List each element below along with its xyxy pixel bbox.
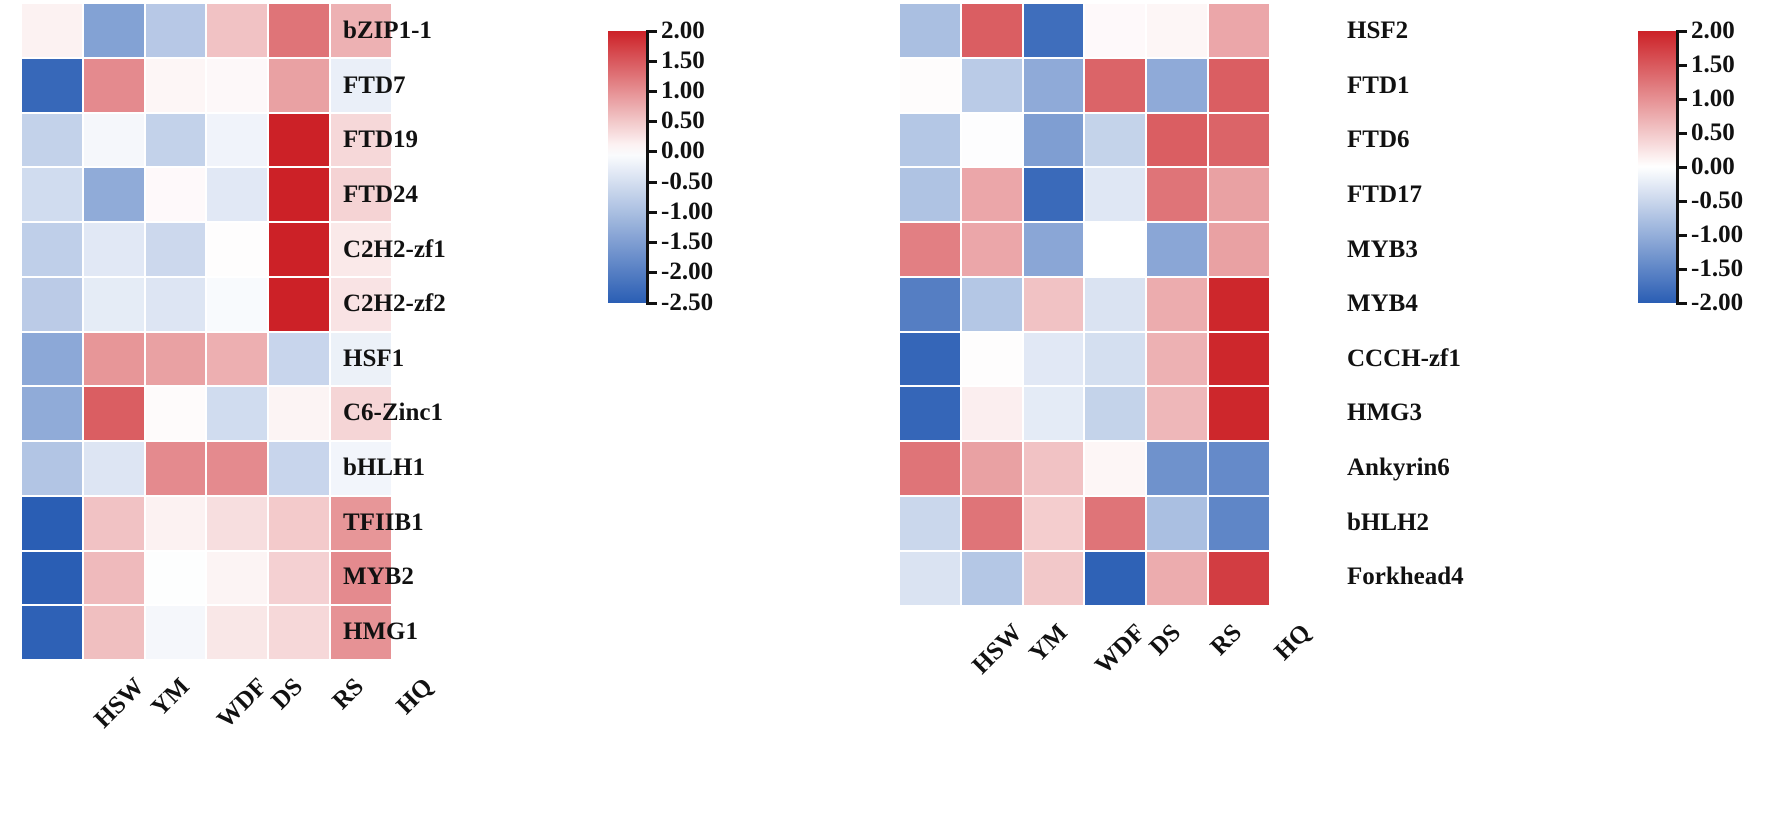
heatmap-cell [1024, 168, 1084, 221]
heatmap-cell [269, 333, 329, 386]
heatmap-cell [1085, 168, 1145, 221]
colorbar-tick-label: 1.50 [661, 48, 705, 73]
colorbar-tick-mark [1676, 200, 1687, 203]
colorbar-tick-mark [1676, 166, 1687, 169]
heatmap-cell [22, 278, 82, 331]
heatmap-cell [207, 168, 267, 221]
heatmap-cell [1147, 223, 1207, 276]
colorbar-tick-label: -2.00 [661, 259, 713, 284]
heatmap-cell [22, 114, 82, 167]
colorbar-tick-label: 2.00 [1691, 18, 1735, 43]
heatmap-cell [146, 4, 206, 57]
left-column-labels: HSWYMWDFDSRSHQ [22, 667, 391, 807]
heatmap-cell [22, 552, 82, 605]
heatmap-cell [1147, 59, 1207, 112]
colorbar-tick-mark [646, 90, 657, 93]
heatmap-cell [1147, 333, 1207, 386]
heatmap-cell [1024, 552, 1084, 605]
colorbar-tick-label: -1.50 [1691, 256, 1743, 281]
heatmap-cell [22, 4, 82, 57]
heatmap-cell [1024, 278, 1084, 331]
heatmap-cell [146, 442, 206, 495]
heatmap-cell [1024, 59, 1084, 112]
heatmap-cell [207, 606, 267, 659]
heatmap-cell [22, 59, 82, 112]
colorbar-tick-mark [1676, 132, 1687, 135]
row-label: FTD19 [343, 113, 446, 168]
heatmap-cell [1147, 4, 1207, 57]
heatmap-cell [900, 4, 960, 57]
heatmap-cell [146, 278, 206, 331]
row-label: HSF2 [1347, 4, 1464, 59]
colorbar-tick-mark [646, 60, 657, 63]
heatmap-cell [22, 223, 82, 276]
row-label: TFIIB1 [343, 495, 446, 550]
heatmap-cell [269, 442, 329, 495]
heatmap-cell [900, 333, 960, 386]
heatmap-cell [22, 497, 82, 550]
row-label: HMG3 [1347, 386, 1464, 441]
row-label: bZIP1-1 [343, 4, 446, 59]
heatmap-cell [1024, 387, 1084, 440]
left-colorbar-axis [646, 31, 649, 303]
row-label: MYB4 [1347, 277, 1464, 332]
heatmap-cell [962, 278, 1022, 331]
heatmap-cell [1085, 278, 1145, 331]
heatmap-cell [1209, 4, 1269, 57]
heatmap-cell [207, 223, 267, 276]
heatmap-cell [84, 606, 144, 659]
colorbar-tick-mark [646, 271, 657, 274]
column-label: HQ [391, 673, 438, 720]
heatmap-cell [269, 387, 329, 440]
colorbar-tick-mark [1676, 98, 1687, 101]
heatmap-cell [146, 333, 206, 386]
heatmap-cell [962, 552, 1022, 605]
heatmap-cell [900, 497, 960, 550]
heatmap-cell [1209, 114, 1269, 167]
colorbar-tick-label: -2.00 [1691, 290, 1743, 315]
heatmap-cell [1085, 59, 1145, 112]
column-label: RS [1206, 619, 1248, 661]
heatmap-cell [269, 497, 329, 550]
heatmap-cell [900, 552, 960, 605]
row-label: C2H2-zf2 [343, 277, 446, 332]
heatmap-cell [1209, 497, 1269, 550]
heatmap-cell [1147, 168, 1207, 221]
row-label: CCCH-zf1 [1347, 332, 1464, 387]
heatmap-cell [22, 168, 82, 221]
heatmap-cell [84, 4, 144, 57]
heatmap-cell [22, 333, 82, 386]
heatmap-cell [962, 168, 1022, 221]
colorbar-tick-label: 0.50 [1691, 120, 1735, 145]
heatmap-cell [962, 4, 1022, 57]
row-label: C6-Zinc1 [343, 386, 446, 441]
colorbar-tick-label: 1.50 [1691, 52, 1735, 77]
heatmap-cell [269, 606, 329, 659]
heatmap-cell [84, 278, 144, 331]
column-label: DS [1144, 619, 1186, 661]
right-heatmap-grid-wrap [900, 4, 1269, 605]
colorbar-tick-mark [1676, 64, 1687, 67]
right-colorbar-gradient [1638, 31, 1676, 303]
column-label: YM [1024, 619, 1073, 668]
row-label: Forkhead4 [1347, 550, 1464, 605]
colorbar-tick-label: -1.00 [661, 199, 713, 224]
heatmap-cell [1085, 114, 1145, 167]
heatmap-cell [84, 333, 144, 386]
heatmap-cell [1085, 497, 1145, 550]
heatmap-cell [84, 168, 144, 221]
colorbar-tick-mark [646, 241, 657, 244]
colorbar-tick-mark [646, 120, 657, 123]
heatmap-cell [962, 223, 1022, 276]
row-label: bHLH2 [1347, 495, 1464, 550]
heatmap-cell [900, 59, 960, 112]
row-label: HSF1 [343, 332, 446, 387]
heatmap-cell [900, 168, 960, 221]
colorbar-tick-mark [646, 181, 657, 184]
heatmap-cell [900, 387, 960, 440]
heatmap-cell [1209, 168, 1269, 221]
heatmap-cell [146, 606, 206, 659]
heatmap-cell [1147, 442, 1207, 495]
column-label: HQ [1269, 619, 1316, 666]
left-heatmap-grid-wrap [22, 4, 391, 659]
heatmap-cell [1147, 114, 1207, 167]
row-label: C2H2-zf1 [343, 222, 446, 277]
row-label: MYB2 [343, 550, 446, 605]
colorbar-tick-mark [646, 30, 657, 33]
heatmap-figure: bZIP1-1FTD7FTD19FTD24C2H2-zf1C2H2-zf2HSF… [0, 0, 1772, 823]
colorbar-tick-label: -1.00 [1691, 222, 1743, 247]
heatmap-cell [146, 114, 206, 167]
heatmap-cell [146, 552, 206, 605]
heatmap-cell [269, 4, 329, 57]
heatmap-cell [269, 59, 329, 112]
heatmap-cell [1024, 333, 1084, 386]
colorbar-tick-mark [1676, 268, 1687, 271]
row-label: FTD1 [1347, 59, 1464, 114]
heatmap-cell [269, 223, 329, 276]
heatmap-cell [1209, 387, 1269, 440]
heatmap-cell [962, 114, 1022, 167]
right-column-labels: HSWYMWDFDSRSHQ [900, 613, 1269, 753]
heatmap-cell [207, 387, 267, 440]
heatmap-cell [1209, 333, 1269, 386]
heatmap-cell [207, 552, 267, 605]
heatmap-cell [962, 333, 1022, 386]
heatmap-cell [1085, 442, 1145, 495]
colorbar-tick-label: 1.00 [1691, 86, 1735, 111]
heatmap-cell [1147, 387, 1207, 440]
heatmap-cell [900, 223, 960, 276]
colorbar-tick-label: -2.50 [661, 290, 713, 315]
heatmap-cell [900, 278, 960, 331]
heatmap-cell [1024, 497, 1084, 550]
left-colorbar: 2.001.501.000.500.00-0.50-1.00-1.50-2.00… [608, 31, 768, 303]
heatmap-cell [146, 387, 206, 440]
heatmap-cell [1024, 114, 1084, 167]
heatmap-cell [84, 223, 144, 276]
heatmap-cell [207, 333, 267, 386]
heatmap-cell [1209, 223, 1269, 276]
heatmap-cell [269, 168, 329, 221]
column-label: DS [266, 673, 308, 715]
column-label: WDF [1091, 619, 1152, 680]
colorbar-tick-mark [646, 302, 657, 305]
right-heatmap-grid [900, 4, 1269, 605]
row-label: FTD24 [343, 168, 446, 223]
heatmap-cell [84, 442, 144, 495]
colorbar-tick-mark [1676, 234, 1687, 237]
heatmap-cell [1024, 4, 1084, 57]
left-colorbar-gradient [608, 31, 646, 303]
colorbar-tick-mark [646, 211, 657, 214]
heatmap-cell [1209, 552, 1269, 605]
colorbar-tick-label: -0.50 [1691, 188, 1743, 213]
heatmap-cell [1085, 333, 1145, 386]
heatmap-cell [207, 114, 267, 167]
colorbar-tick-label: 0.00 [661, 138, 705, 163]
heatmap-cell [146, 59, 206, 112]
heatmap-cell [1085, 552, 1145, 605]
heatmap-cell [84, 59, 144, 112]
heatmap-cell [1147, 278, 1207, 331]
heatmap-cell [900, 114, 960, 167]
heatmap-cell [1147, 497, 1207, 550]
right-colorbar: 2.001.501.000.500.00-0.50-1.00-1.50-2.00 [1638, 31, 1772, 303]
heatmap-cell [207, 278, 267, 331]
heatmap-cell [269, 552, 329, 605]
heatmap-cell [207, 497, 267, 550]
colorbar-tick-mark [1676, 302, 1687, 305]
left-heatmap-grid [22, 4, 391, 659]
heatmap-cell [1209, 442, 1269, 495]
heatmap-cell [22, 606, 82, 659]
heatmap-cell [1085, 4, 1145, 57]
row-label: Ankyrin6 [1347, 441, 1464, 496]
column-label: HSW [90, 673, 151, 734]
row-label: FTD17 [1347, 168, 1464, 223]
heatmap-cell [1085, 387, 1145, 440]
heatmap-cell [84, 387, 144, 440]
heatmap-cell [1209, 278, 1269, 331]
colorbar-tick-mark [646, 150, 657, 153]
left-row-labels: bZIP1-1FTD7FTD19FTD24C2H2-zf1C2H2-zf2HSF… [343, 4, 446, 659]
column-label: YM [146, 673, 195, 722]
heatmap-cell [84, 552, 144, 605]
heatmap-cell [1024, 442, 1084, 495]
colorbar-tick-label: 0.00 [1691, 154, 1735, 179]
colorbar-tick-label: 2.00 [661, 18, 705, 43]
row-label: MYB3 [1347, 222, 1464, 277]
right-row-labels: HSF2FTD1FTD6FTD17MYB3MYB4CCCH-zf1HMG3Ank… [1347, 4, 1464, 605]
heatmap-cell [22, 387, 82, 440]
heatmap-cell [1024, 223, 1084, 276]
column-label: RS [328, 673, 370, 715]
heatmap-cell [1085, 223, 1145, 276]
colorbar-tick-label: -1.50 [661, 229, 713, 254]
heatmap-cell [207, 442, 267, 495]
heatmap-cell [900, 442, 960, 495]
heatmap-cell [269, 114, 329, 167]
heatmap-cell [207, 4, 267, 57]
heatmap-cell [146, 497, 206, 550]
heatmap-cell [962, 442, 1022, 495]
heatmap-cell [146, 168, 206, 221]
heatmap-cell [962, 387, 1022, 440]
heatmap-cell [84, 497, 144, 550]
column-label: WDF [213, 673, 274, 734]
heatmap-cell [962, 497, 1022, 550]
row-label: HMG1 [343, 605, 446, 660]
heatmap-cell [1209, 59, 1269, 112]
row-label: FTD7 [343, 59, 446, 114]
row-label: bHLH1 [343, 441, 446, 496]
heatmap-cell [269, 278, 329, 331]
heatmap-cell [962, 59, 1022, 112]
heatmap-cell [146, 223, 206, 276]
heatmap-cell [22, 442, 82, 495]
colorbar-tick-label: 0.50 [661, 108, 705, 133]
row-label: FTD6 [1347, 113, 1464, 168]
heatmap-cell [207, 59, 267, 112]
heatmap-cell [1147, 552, 1207, 605]
colorbar-tick-mark [1676, 30, 1687, 33]
column-label: HSW [968, 619, 1029, 680]
colorbar-tick-label: 1.00 [661, 78, 705, 103]
heatmap-cell [84, 114, 144, 167]
colorbar-tick-label: -0.50 [661, 169, 713, 194]
